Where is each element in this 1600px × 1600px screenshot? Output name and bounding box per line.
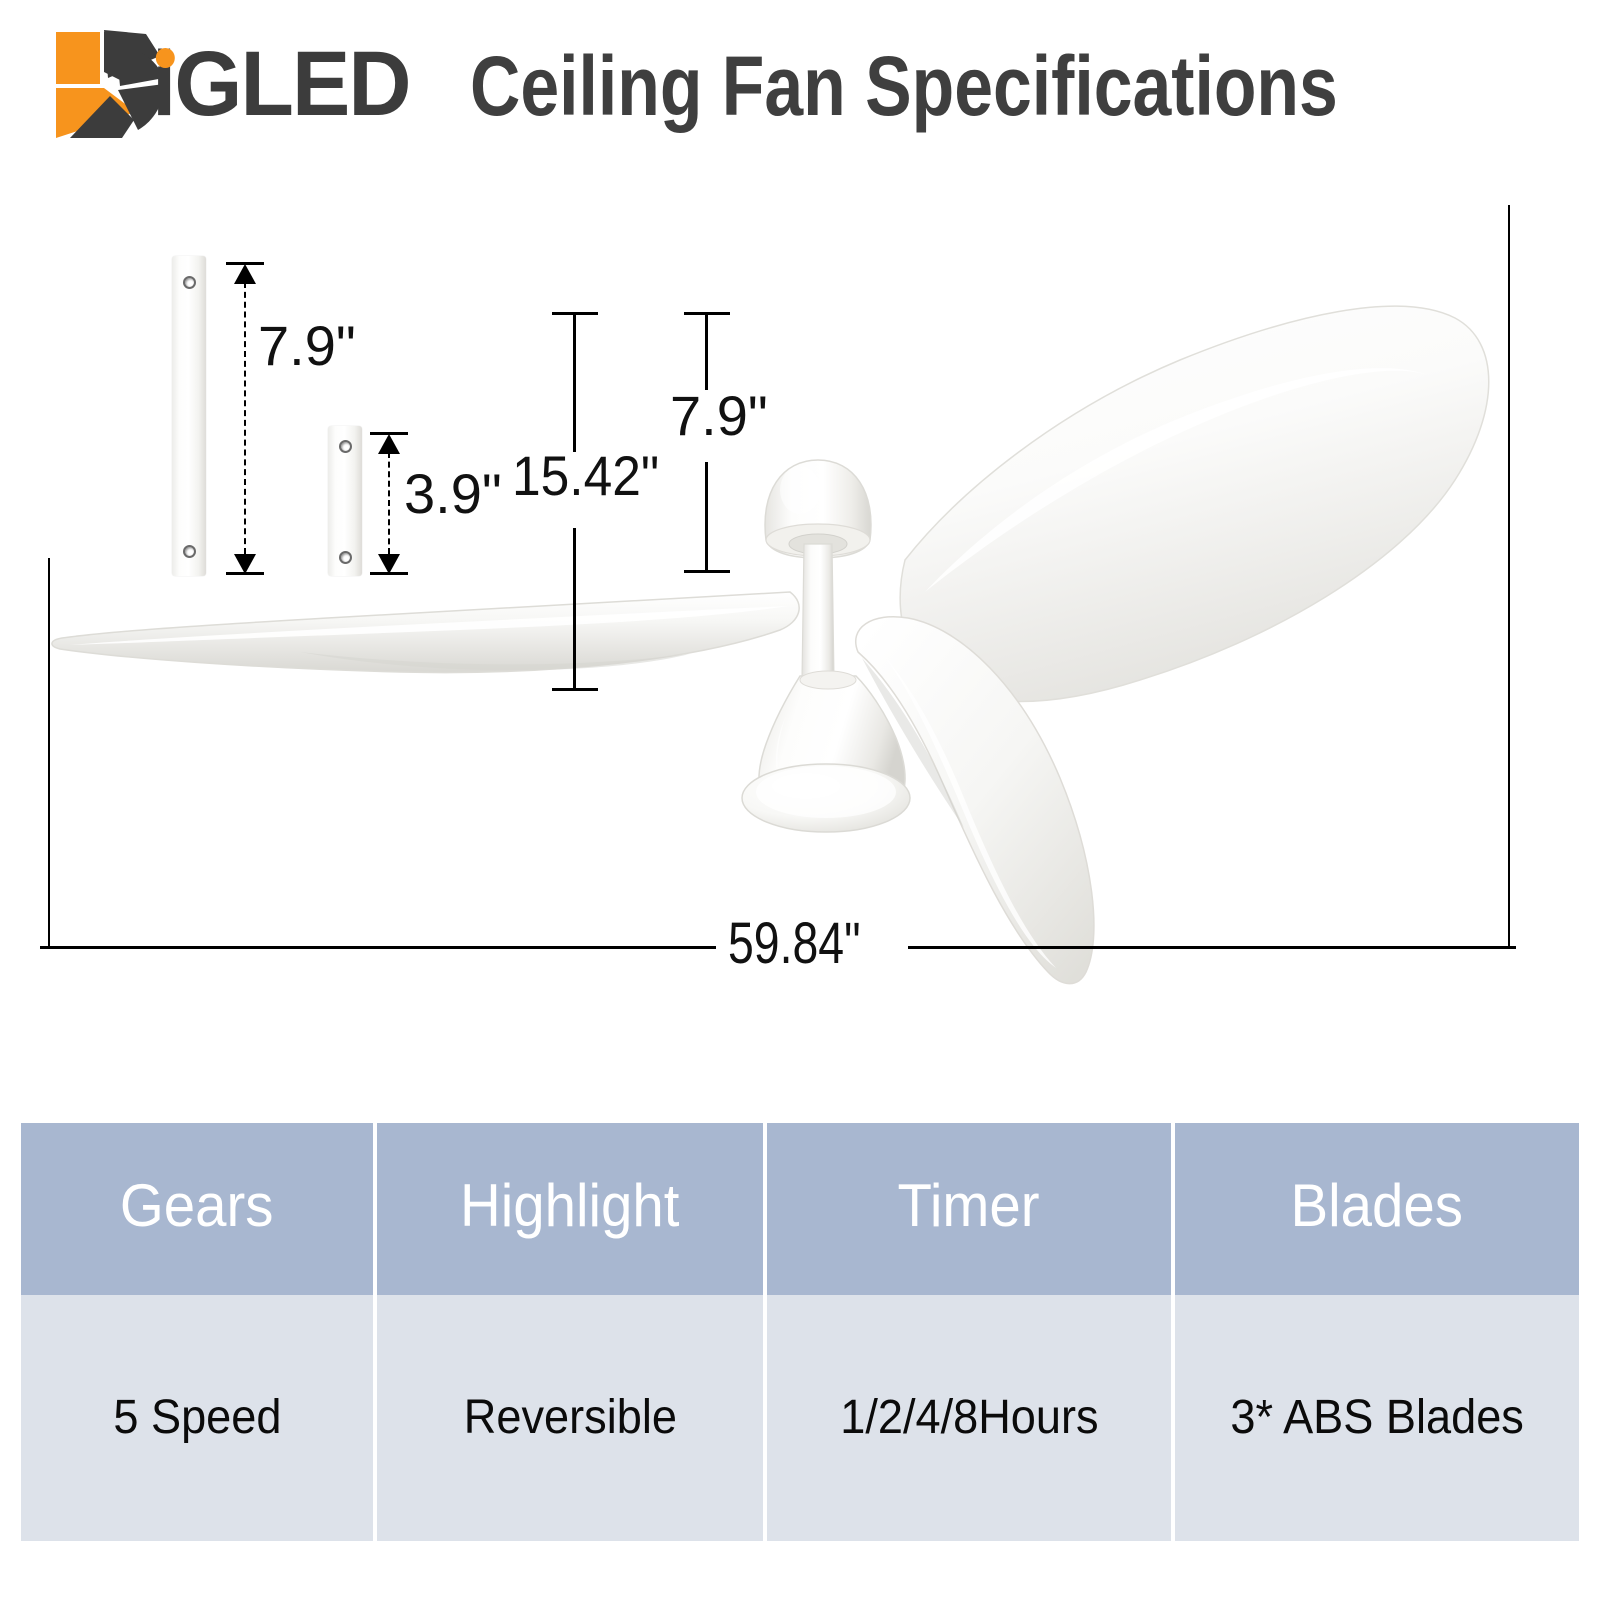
light-cover [742,764,910,832]
dimension-label-downrod-long: 7.9" [258,318,356,374]
short-downrod-hole-bottom [339,551,352,564]
dimension-label-downrod-short: 3.9" [404,466,502,522]
short-downrod-hole-top [339,440,352,453]
blade-span-ext-left [48,558,50,948]
logo-wordmark-text: iGLED [152,33,410,135]
table-value-row: 5 Speed Reversible 1/2/4/8Hours 3* ABS B… [21,1295,1579,1541]
table-cell-blades: 3* ABS Blades [1175,1295,1579,1541]
table-cell-blades-value: 3* ABS Blades [1230,1394,1523,1442]
blade-span-ext-right [1508,205,1510,948]
long-downrod-hole-bottom [183,545,196,558]
short-downrod [328,426,362,576]
ceiling-canopy [765,460,871,558]
table-cell-gears-value: 5 Speed [113,1394,281,1442]
page-header: iGLED Ceiling Fan Specifications [0,0,1600,160]
table-cell-highlight-value: Reversible [463,1394,676,1442]
page-title: Ceiling Fan Specifications [470,36,1338,136]
fan-blade-left [52,592,799,673]
table-header-blades: Blades [1175,1123,1579,1295]
table-header-highlight-label: Highlight [460,1176,679,1236]
blade-span-line-left [40,946,716,949]
logo-wordmark: iGLED [152,34,410,134]
table-cell-timer: 1/2/4/8Hours [767,1295,1171,1541]
long-downrod-hole-top [183,276,196,289]
specifications-table: Gears Highlight Timer Blades 5 Speed Rev… [21,1123,1579,1541]
logo-i-dot [156,48,175,68]
table-cell-timer-value: 1/2/4/8Hours [840,1394,1098,1442]
long-downrod [172,256,206,576]
table-header-highlight: Highlight [377,1123,763,1295]
table-header-row: Gears Highlight Timer Blades [21,1123,1579,1295]
table-cell-highlight: Reversible [377,1295,763,1541]
table-cell-gears: 5 Speed [21,1295,373,1541]
dimension-label-blade-span: 59.84" [728,916,861,972]
table-header-gears-label: Gears [120,1176,274,1236]
table-header-gears: Gears [21,1123,373,1295]
table-header-timer-label: Timer [898,1176,1040,1236]
dimension-label-drop-height: 7.9" [670,388,768,444]
table-header-blades-label: Blades [1291,1176,1463,1236]
fan-downrod [802,544,834,680]
ceiling-fan-dimension-diagram: 7.9" 3.9" 15.42" 7.9" 59.84" [0,160,1600,1060]
blade-span-line-right [908,946,1516,949]
dimension-label-total-height: 15.42" [512,448,659,504]
fan-blade-upper-right [900,306,1489,701]
table-header-timer: Timer [767,1123,1171,1295]
